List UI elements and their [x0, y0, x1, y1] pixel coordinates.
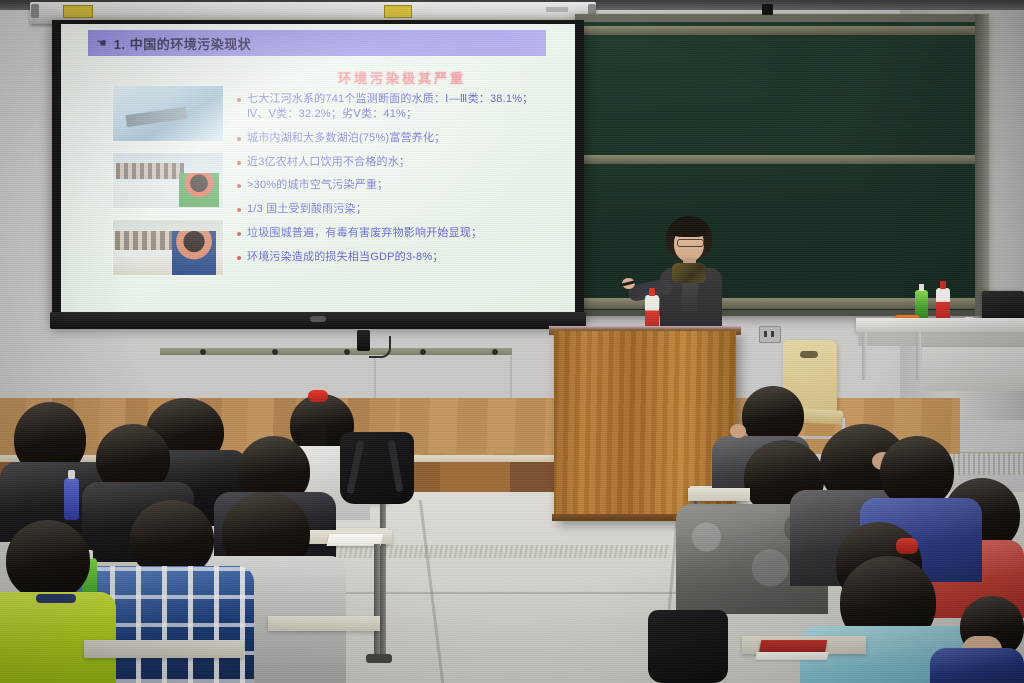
red-hair-tie	[896, 538, 918, 554]
blackboard-rail-top	[580, 26, 980, 35]
slide-bullet-item: 七大江河水系的741个监测断面的水质：Ⅰ—Ⅲ类：38.1%；Ⅳ、Ⅴ类：32.2%…	[237, 92, 537, 122]
bullet-dot-icon	[237, 208, 241, 212]
red-cap-water-bottle[interactable]	[936, 288, 950, 322]
blackboard-right-edge	[975, 14, 989, 316]
side-table-skirt	[858, 332, 1024, 346]
lecturer	[620, 216, 730, 332]
side-table-top	[856, 318, 1024, 332]
rail-fixture	[200, 349, 206, 355]
power-outlet[interactable]	[759, 326, 781, 343]
bullet-text: 垃圾围城普遍，有毒有害废弃物影响开始显现；	[247, 226, 482, 241]
slide-title-text: 1. 中国的环境污染现状	[114, 34, 251, 53]
lecturer-scarf	[672, 263, 706, 283]
blue-water-bottle[interactable]	[64, 478, 79, 520]
lecture-hall-photo: ☚ 1. 中国的环境污染现状 环境污染极其严重 七大江河水系的741个监测断面的…	[0, 0, 1024, 683]
bullet-dot-icon	[237, 256, 241, 260]
bullet-text: 环境污染造成的损失相当GDP的3-8%；	[247, 250, 444, 265]
side-table-leg	[916, 332, 921, 380]
polluted-river-ice-photo	[113, 86, 223, 141]
slide-bullet-item: >30%的城市空气污染严重；	[237, 178, 537, 193]
bullet-dot-icon	[237, 161, 241, 165]
bullet-text: 七大江河水系的741个监测断面的水质：Ⅰ—Ⅲ类：38.1%；Ⅳ、Ⅴ类：32.2%…	[247, 92, 537, 122]
eyeglasses-icon	[677, 239, 704, 247]
backpack[interactable]	[648, 610, 728, 683]
side-table-leg	[862, 332, 867, 380]
bullet-text: 城市内湖和大多数湖泊(75%)富营养化；	[247, 131, 445, 146]
screen-pull-knob[interactable]	[310, 316, 326, 322]
presentation-slide: ☚ 1. 中国的环境污染现状 环境污染极其严重 七大江河水系的741个监测断面的…	[61, 24, 575, 312]
slide-bullet-item: 城市内湖和大多数湖泊(75%)富营养化；	[237, 131, 537, 146]
slide-bullet-item: 垃圾围城普遍，有毒有害废弃物影响开始显现；	[237, 226, 537, 241]
bridge-and-boy-with-bowl-photo	[113, 220, 223, 275]
bullet-text: 1/3 国土受到酸雨污染；	[247, 202, 367, 217]
roller-label-center	[384, 5, 412, 18]
student-hand	[730, 424, 746, 438]
pointing-hand-icon: ☚	[96, 37, 107, 49]
slide-bullet-list: 七大江河水系的741个监测断面的水质：Ⅰ—Ⅲ类：38.1%；Ⅳ、Ⅴ类：32.2%…	[237, 92, 537, 274]
bullet-dot-icon	[237, 184, 241, 188]
slide-bullet-item: 环境污染造成的损失相当GDP的3-8%；	[237, 250, 537, 265]
bullet-text: 近3亿农村人口饮用不合格的水；	[247, 155, 410, 170]
student-desk	[688, 488, 750, 501]
bullet-dot-icon	[237, 137, 241, 141]
roller-brand-mark	[546, 7, 568, 12]
rail-fixture	[420, 349, 426, 355]
rail-fixture	[344, 349, 350, 355]
blackboard-rail-middle	[580, 155, 980, 164]
student-body	[930, 648, 1024, 683]
rail-fixture	[272, 349, 278, 355]
student-desk	[268, 616, 380, 631]
blackboard-clip	[762, 4, 773, 15]
desk-leg	[374, 544, 380, 662]
speaker-cable	[369, 336, 391, 358]
chair-handle-slot-icon	[800, 351, 818, 358]
lecturer-fringe	[672, 224, 706, 237]
slide-bullet-item: 1/3 国土受到酸雨污染；	[237, 202, 537, 217]
student-head	[6, 520, 90, 600]
roller-end-cap-left	[31, 4, 39, 18]
student-desk	[84, 640, 244, 658]
jacket-collar	[36, 594, 76, 603]
slide-bullet-item: 近3亿农村人口饮用不合格的水；	[237, 155, 537, 170]
desk-leg	[380, 500, 386, 660]
bullet-dot-icon	[237, 98, 241, 102]
desk-foot	[366, 654, 392, 663]
slide-heading: 环境污染极其严重	[257, 68, 547, 87]
bullet-text: >30%的城市空气污染严重；	[247, 178, 388, 193]
rail-fixture	[492, 349, 498, 355]
notebook-paper[interactable]	[755, 652, 828, 660]
bullet-dot-icon	[237, 232, 241, 236]
roller-label-left	[63, 5, 93, 18]
side-cabinet	[922, 346, 1024, 391]
bridge-and-child-photo	[113, 153, 223, 208]
red-scrunchie	[308, 390, 328, 402]
slide-title-bar: ☚ 1. 中国的环境污染现状	[88, 30, 546, 56]
wall-mounted-rail	[160, 348, 512, 355]
student-yellow-jacket	[0, 592, 116, 683]
slide-photo-column	[113, 86, 223, 287]
